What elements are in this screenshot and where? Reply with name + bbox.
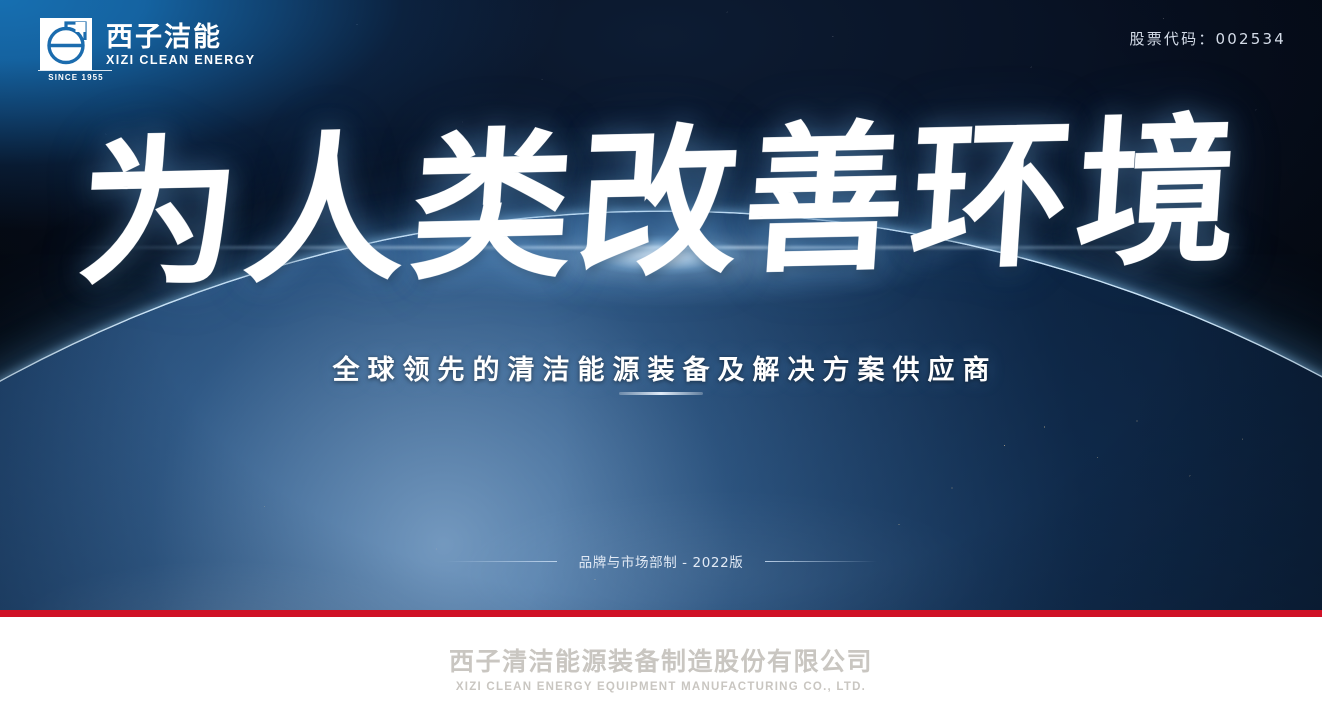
- brand-logo[interactable]: SINCE 1955 西子洁能 XIZI CLEAN ENERGY: [40, 18, 256, 70]
- caption-row: 品牌与市场部制 - 2022版: [0, 551, 1322, 571]
- caption-line-right: [765, 561, 877, 562]
- logo-name-en: XIZI CLEAN ENERGY: [106, 54, 256, 67]
- stock-code-label: 股票代码：002534: [1130, 28, 1286, 49]
- caption-line-left: [445, 561, 557, 562]
- hero-headline: 为人类改善环境: [0, 104, 1322, 304]
- logo-since-label: SINCE 1955: [40, 73, 112, 82]
- logo-wordmark: 西子洁能 XIZI CLEAN ENERGY: [106, 22, 256, 67]
- hero-subtitle: 全球领先的清洁能源装备及解决方案供应商: [0, 348, 1322, 387]
- logo-mark-wrap: SINCE 1955: [40, 18, 92, 70]
- accent-red-rule: [0, 610, 1322, 617]
- logo-name-cn: 西子洁能: [106, 24, 256, 52]
- xizi-e-mark-icon: [40, 18, 92, 70]
- logo-since-divider: [38, 70, 112, 71]
- footer-company-cn: 西子清洁能源装备制造股份有限公司: [449, 642, 873, 678]
- footer-company-en: XIZI CLEAN ENERGY EQUIPMENT MANUFACTURIN…: [456, 681, 866, 693]
- cover-page: SINCE 1955 西子洁能 XIZI CLEAN ENERGY 股票代码：0…: [0, 0, 1322, 718]
- top-bar: SINCE 1955 西子洁能 XIZI CLEAN ENERGY 股票代码：0…: [0, 0, 1322, 90]
- subtitle-divider: [619, 392, 703, 395]
- caption-text: 品牌与市场部制 - 2022版: [579, 551, 744, 571]
- footer-bar: 西子清洁能源装备制造股份有限公司 XIZI CLEAN ENERGY EQUIP…: [0, 617, 1322, 718]
